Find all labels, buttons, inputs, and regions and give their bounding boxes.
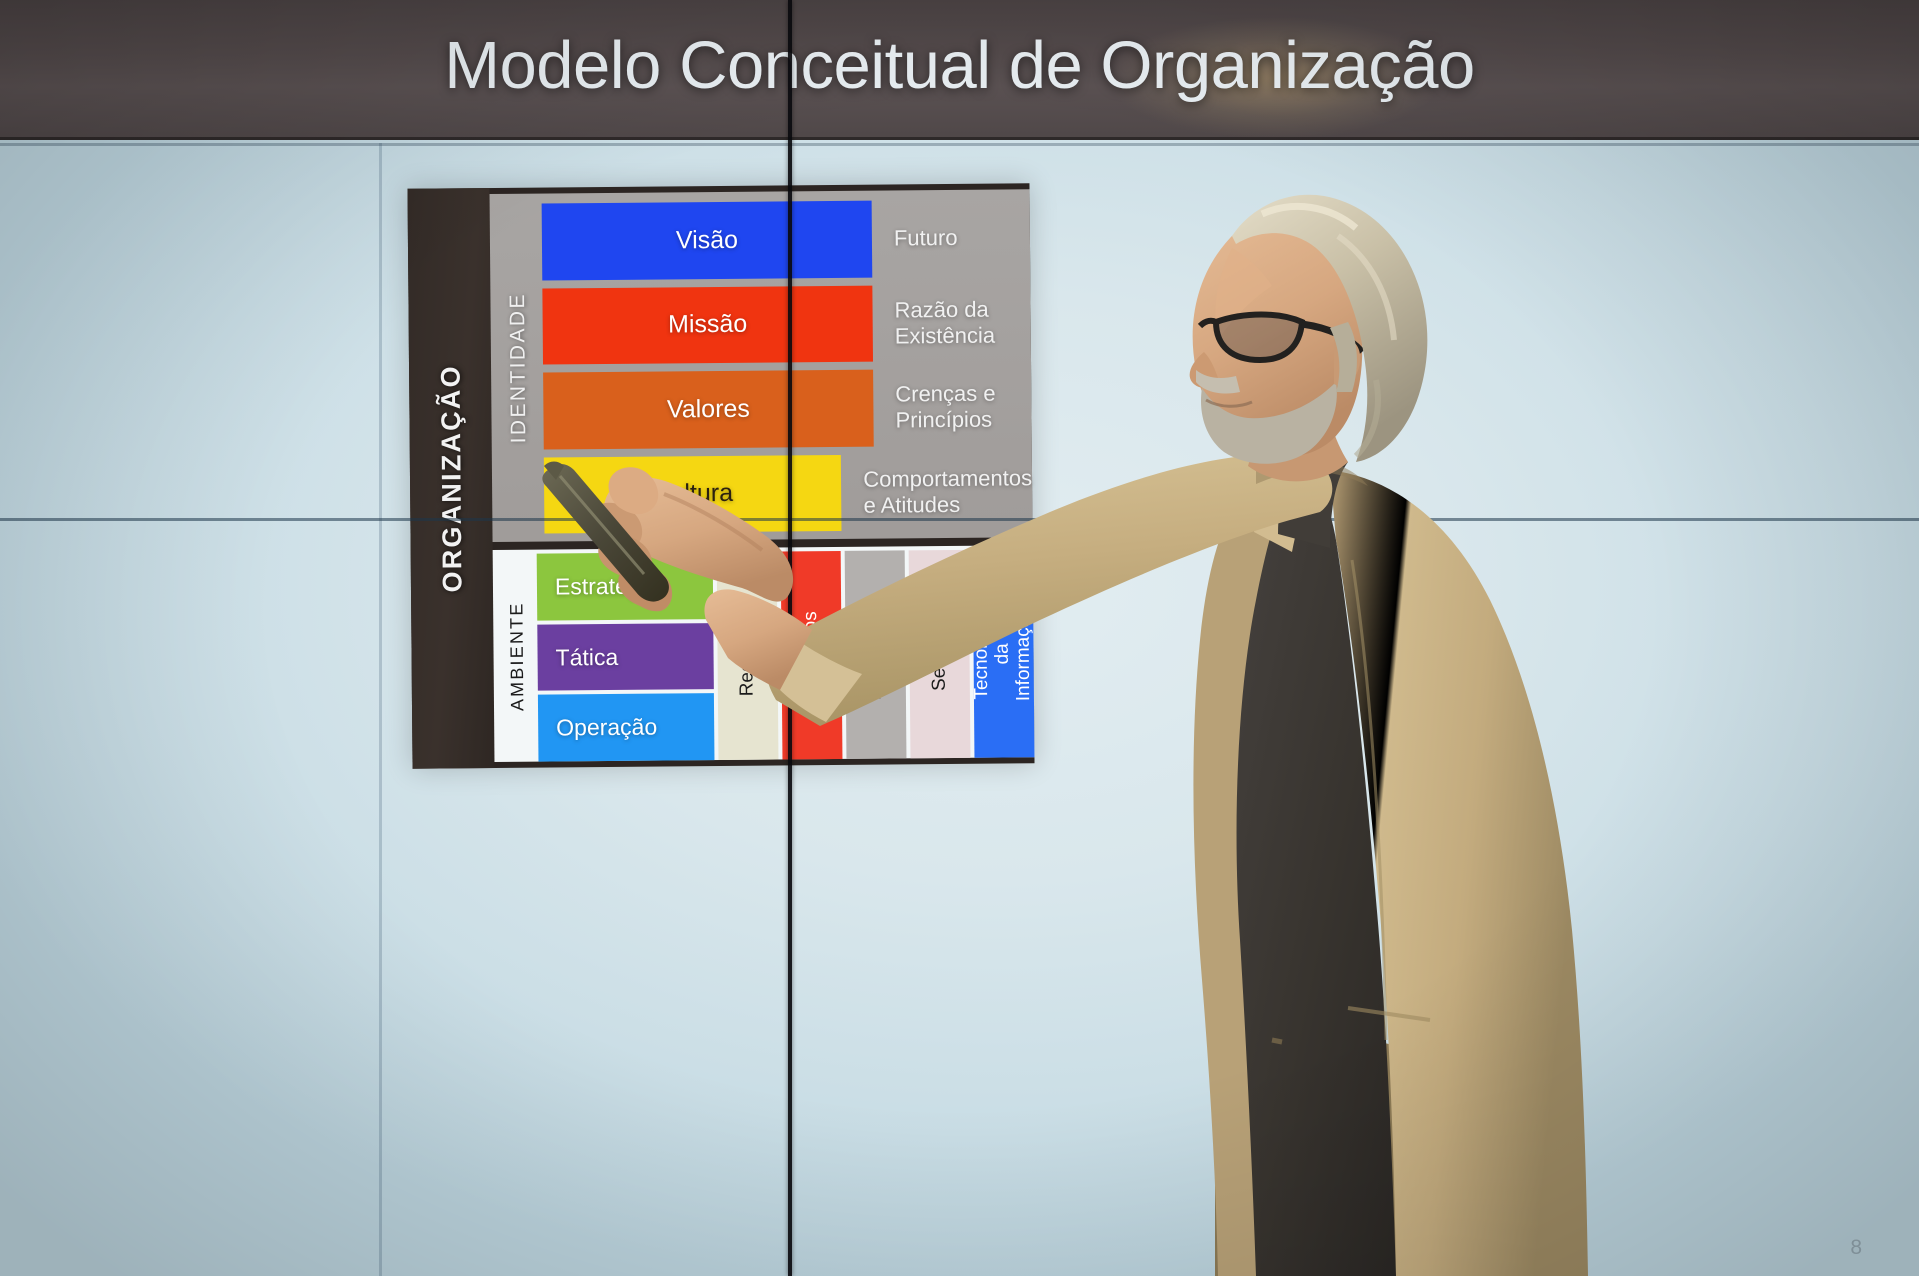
ambiente-column-label: Restrições (865, 610, 887, 700)
identidade-rows: Visão Futuro Missão Razão da Existência … (542, 199, 1033, 533)
ambiente-level-estrategia: Estratégia (537, 552, 714, 620)
identidade-desc-cultura: Comportamentos e Atitudes (841, 453, 1032, 531)
identidade-row: Missão Razão da Existência (542, 284, 1031, 365)
identidade-axis: IDENTIDADE (496, 194, 543, 542)
identidade-row: Visão Futuro (542, 199, 1031, 280)
ambiente-levels: Estratégia Tática Operação (537, 552, 715, 762)
ambiente-column-label: Processos (801, 611, 823, 700)
ambiente-grid: Estratégia Tática Operação Recursos Proc… (537, 549, 1035, 761)
ambiente-column-processos: Processos (781, 551, 843, 760)
identidade-desc-missao: Razão da Existência (872, 284, 1031, 362)
ambiente-column-restricoes: Restrições (845, 550, 907, 759)
organizacao-label: ORGANIZAÇÃO (435, 318, 469, 638)
ambiente-axis: AMBIENTE (497, 550, 539, 762)
identidade-desc-visao: Futuro (872, 199, 1031, 277)
identidade-bar-visao: Visão (542, 201, 873, 280)
identidade-bar-valores: Valores (543, 370, 874, 449)
ambiente-columns: Recursos Processos Restrições Serviços T… (713, 549, 1035, 760)
ambiente-column-label: Serviços (929, 618, 951, 691)
ambiente-level-operacao: Operação (538, 693, 715, 761)
slide-title: Modelo Conceitual de Organização (0, 27, 1919, 104)
ambiente-column-label: Recursos (737, 616, 759, 696)
ambiente-column-tecnologia-informacao: Tecnologia da Informação (973, 549, 1035, 758)
ambiente-level-tatica: Tática (537, 623, 714, 691)
ambiente-axis-label: AMBIENTE (507, 601, 529, 711)
identidade-axis-label: IDENTIDADE (506, 292, 531, 443)
ambiente-column-recursos: Recursos (717, 552, 779, 761)
slide-number: 8 (1850, 1239, 1863, 1258)
identidade-bar-cultura: Cultura (544, 454, 842, 533)
ambiente-column-label: Tecnologia da Informação (972, 606, 1035, 702)
identidade-bar-missao: Missão (542, 285, 873, 364)
identidade-row: Cultura Comportamentos e Atitudes (544, 453, 1033, 534)
organizacao-spine: ORGANIZAÇÃO (407, 188, 494, 769)
presentation-scene: Modelo Conceitual de Organização ORGANIZ… (0, 0, 1919, 1276)
ambiente-panel: AMBIENTE Estratégia Tática Operação Recu… (493, 545, 1035, 762)
conceptual-model-diagram: ORGANIZAÇÃO IDENTIDADE Visão Futuro Miss… (407, 183, 1034, 768)
identidade-desc-valores: Crenças e Princípios (873, 368, 1032, 446)
identidade-row: Valores Crenças e Princípios (543, 368, 1032, 449)
ambiente-column-servicos: Serviços (909, 550, 971, 759)
identidade-panel: IDENTIDADE Visão Futuro Missão Razão da … (490, 189, 1033, 542)
